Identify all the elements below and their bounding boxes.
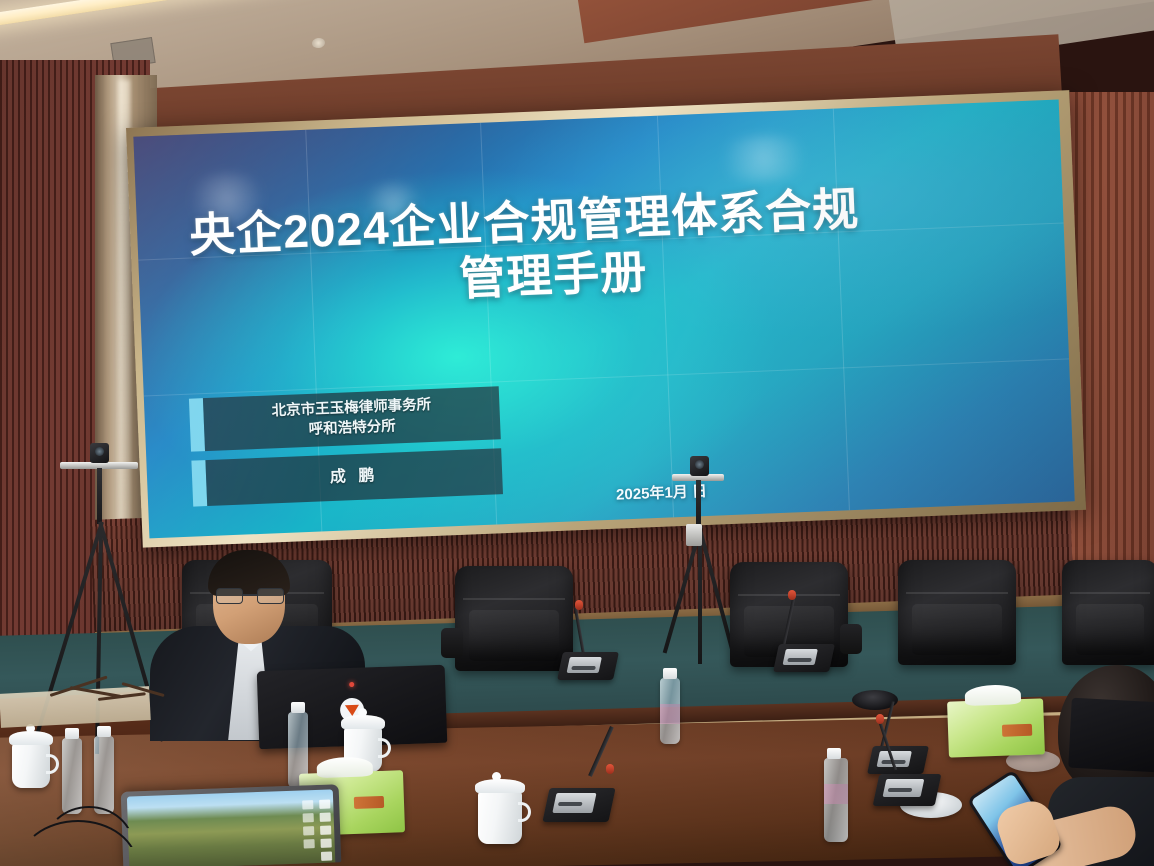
teacup[interactable] xyxy=(12,742,50,788)
video-wall-display[interactable]: 央企2024企业合规管理体系合规 管理手册 北京市王玉梅律师事务所 呼和浩特分所… xyxy=(133,100,1074,539)
teacup-lid xyxy=(9,731,53,745)
microphone-base[interactable] xyxy=(773,644,835,672)
chair-armrest xyxy=(840,624,862,654)
microphone-tip xyxy=(788,590,796,600)
slide-presenter-name: 成 鹏 xyxy=(205,448,503,505)
camera-icon xyxy=(90,443,109,463)
microphone-base[interactable] xyxy=(542,788,615,822)
tissue-sheet xyxy=(965,684,1022,706)
laptop-desktop-icons[interactable] xyxy=(302,800,315,848)
tissue-box-logo xyxy=(1002,724,1032,737)
microphone-base[interactable] xyxy=(557,652,619,680)
microphone-base[interactable] xyxy=(873,774,942,806)
tripod-column xyxy=(97,468,102,524)
desktop-monitor-right xyxy=(1068,698,1154,773)
teacup-lid xyxy=(341,715,385,729)
bottle-cap xyxy=(97,726,111,737)
slide-org-row: 北京市王玉梅律师事务所 呼和浩特分所 xyxy=(189,386,501,452)
bottle-label xyxy=(660,704,680,724)
bottle-cap xyxy=(65,728,79,739)
tissue-box-right[interactable] xyxy=(947,698,1045,757)
microphone-control-panel[interactable] xyxy=(552,793,596,813)
bottle-cap xyxy=(827,748,841,759)
office-chair[interactable] xyxy=(898,560,1016,665)
laptop-open-foreground[interactable] xyxy=(121,784,342,866)
laptop-desktop-icons[interactable] xyxy=(319,800,332,861)
tripod-accessory xyxy=(686,524,702,546)
microphone-control-panel[interactable] xyxy=(883,779,925,797)
office-chair[interactable] xyxy=(1062,560,1154,665)
tissue-box-logo xyxy=(354,796,384,809)
microphone-control-panel[interactable] xyxy=(783,649,818,665)
slide-presenter-row: 成 鹏 xyxy=(191,448,503,506)
bottle-label xyxy=(824,784,848,804)
water-bottle[interactable] xyxy=(824,758,848,842)
presentation-slide: 央企2024企业合规管理体系合规 管理手册 北京市王玉梅律师事务所 呼和浩特分所… xyxy=(133,100,1074,539)
camera-icon xyxy=(690,456,709,476)
laptop-lid xyxy=(121,784,342,866)
microphone-tip xyxy=(606,764,614,774)
office-chair[interactable] xyxy=(455,566,573,671)
microphone-control-panel[interactable] xyxy=(567,657,602,673)
laptop-screen[interactable] xyxy=(127,789,335,866)
microphone-tip xyxy=(876,714,884,724)
water-bottle[interactable] xyxy=(660,678,680,744)
microphone-tip xyxy=(575,600,583,610)
water-bottle[interactable] xyxy=(62,738,82,814)
laptop-power-led xyxy=(349,682,354,687)
teacup-lid xyxy=(475,779,525,793)
chair-armrest xyxy=(441,628,463,658)
eyeglasses-icon xyxy=(216,588,284,604)
slide-info-block: 北京市王玉梅律师事务所 呼和浩特分所 成 鹏 xyxy=(189,386,503,515)
decorative-branches xyxy=(40,676,190,720)
slide-org-box: 北京市王玉梅律师事务所 呼和浩特分所 xyxy=(203,386,501,451)
tripod-leg xyxy=(698,526,702,664)
video-wall-frame: 央企2024企业合规管理体系合规 管理手册 北京市王玉梅律师事务所 呼和浩特分所… xyxy=(126,90,1086,548)
conference-room-scene: 央企2024企业合规管理体系合规 管理手册 北京市王玉梅律师事务所 呼和浩特分所… xyxy=(0,0,1154,866)
bottle-cap xyxy=(291,702,305,713)
tripod-column xyxy=(696,480,701,528)
bottle-cap xyxy=(663,668,677,679)
teacup[interactable] xyxy=(478,790,522,844)
water-bottle[interactable] xyxy=(94,736,114,814)
slide-title: 央企2024企业合规管理体系合规 管理手册 xyxy=(188,175,1036,317)
tissue-sheet xyxy=(316,756,373,778)
microphone-base[interactable] xyxy=(867,746,929,774)
